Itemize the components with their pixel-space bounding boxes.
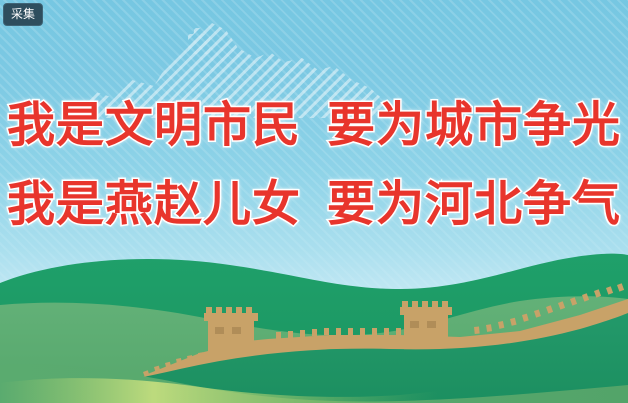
screenshot-canvas: 我是文明市民要为城市争光 我是燕赵儿女要为河北争气 采集 [0,0,628,403]
great-wall-tower-right [400,301,452,351]
headline-line-1-right: 要为城市争光 [327,101,621,149]
landscape-hills-and-great-wall [0,243,628,403]
banner-headline-line-2: 我是燕赵儿女要为河北争气 [0,180,628,228]
headline-line-2-right: 要为河北争气 [327,180,621,228]
headline-line-1-left: 我是文明市民 [7,101,301,149]
capture-button[interactable]: 采集 [3,3,43,26]
banner-headline-line-1: 我是文明市民要为城市争光 [0,101,628,149]
headline-line-2-left: 我是燕赵儿女 [7,180,301,228]
great-wall-tower-left [204,307,258,359]
